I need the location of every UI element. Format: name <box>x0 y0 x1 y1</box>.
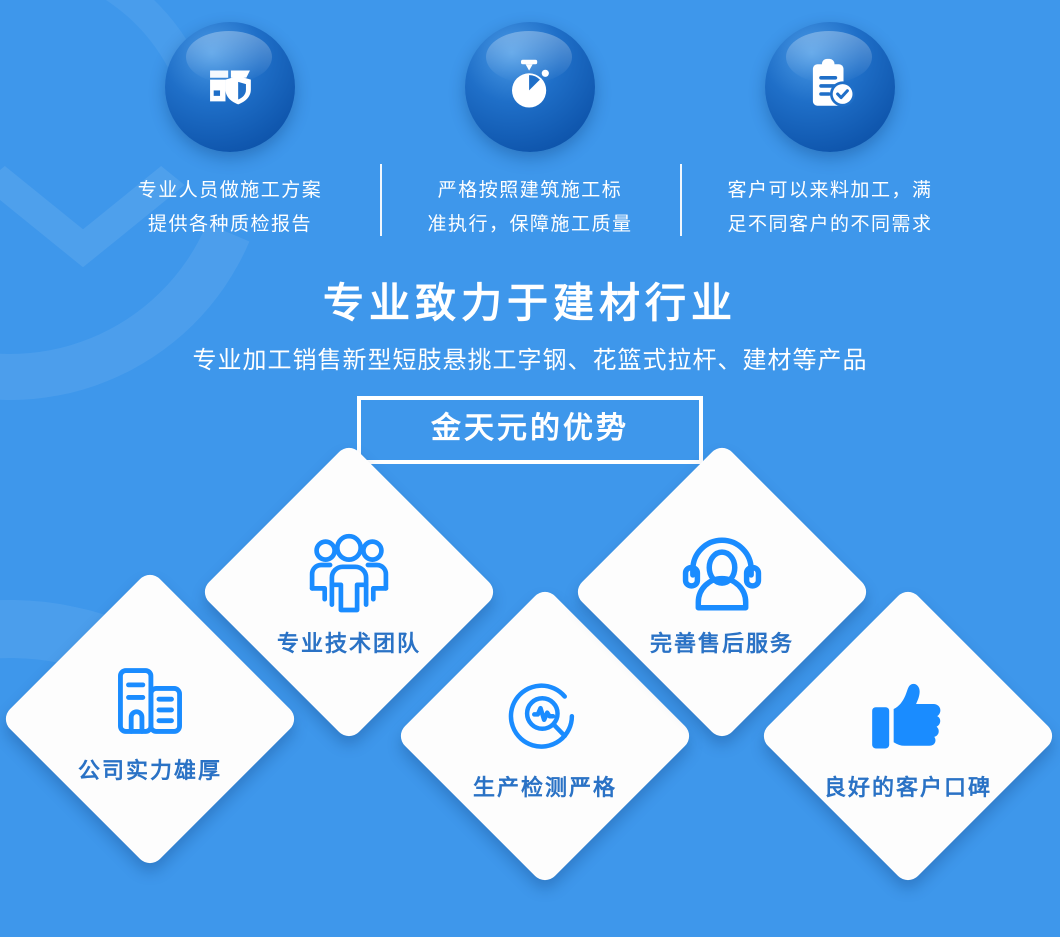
promo-banner: 专业人员做施工方案 提供各种质检报告 严格按照建筑施工标 准执行 <box>0 0 1060 937</box>
advantage-label: 良好的客户口碑 <box>824 770 992 802</box>
magnifier-pulse-icon <box>502 670 588 766</box>
team-people-icon <box>304 526 394 622</box>
stopwatch-icon <box>503 56 557 119</box>
advantage-card-reputation[interactable]: 良好的客户口碑 <box>758 586 1058 886</box>
advantage-label: 生产检测严格 <box>473 770 617 802</box>
advantage-label: 完善售后服务 <box>650 626 794 658</box>
advantage-label: 专业技术团队 <box>277 626 421 658</box>
building-icon <box>107 653 193 749</box>
thumbs-up-icon <box>865 670 951 766</box>
box-shield-icon <box>201 56 259 119</box>
advantage-diamond-group: 公司实力雄厚 专业技 <box>0 0 1060 937</box>
headset-support-icon <box>678 526 766 622</box>
advantage-label: 公司实力雄厚 <box>78 753 222 785</box>
clipboard-check-icon <box>803 56 857 119</box>
